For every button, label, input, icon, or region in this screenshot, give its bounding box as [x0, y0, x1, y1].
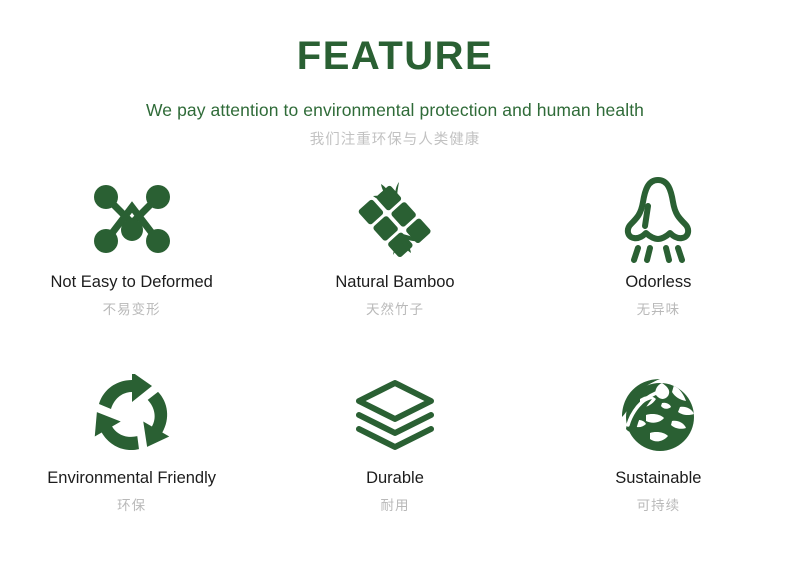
subtitle-chinese: 我们注重环保与人类健康	[0, 132, 790, 149]
molecule-lattice-icon	[92, 171, 172, 267]
feature-label-chinese: 不易变形	[103, 302, 161, 318]
feature-label: Sustainable	[615, 469, 701, 489]
feature-label: Odorless	[625, 273, 691, 293]
feature-grid: Not Easy to Deformed 不易变形	[0, 171, 790, 563]
feature-label-chinese: 可持续	[637, 498, 681, 514]
nose-odor-icon	[620, 171, 696, 267]
section-header: FEATURE We pay attention to environmenta…	[0, 0, 790, 149]
globe-leaf-icon	[616, 367, 700, 463]
feature-label-chinese: 天然竹子	[366, 302, 424, 318]
feature-card-not-easy-to-deformed: Not Easy to Deformed 不易变形	[0, 171, 263, 367]
feature-section: FEATURE We pay attention to environmenta…	[0, 0, 790, 576]
feature-card-sustainable: Sustainable 可持续	[527, 367, 790, 563]
feature-label: Environmental Friendly	[47, 469, 216, 489]
feature-label: Natural Bamboo	[335, 273, 454, 293]
bamboo-icon	[355, 171, 435, 267]
feature-label: Not Easy to Deformed	[51, 273, 213, 293]
subtitle-english: We pay attention to environmental protec…	[0, 100, 790, 121]
feature-label-chinese: 环保	[117, 498, 146, 514]
feature-card-durable: Durable 耐用	[263, 367, 526, 563]
feature-label-chinese: 无异味	[637, 302, 681, 318]
feature-label: Durable	[366, 469, 424, 489]
feature-card-natural-bamboo: Natural Bamboo 天然竹子	[263, 171, 526, 367]
feature-label-chinese: 耐用	[380, 498, 409, 514]
feature-card-odorless: Odorless 无异味	[527, 171, 790, 367]
recycle-arrows-icon	[90, 367, 174, 463]
stacked-layers-icon	[352, 367, 438, 463]
page-title: FEATURE	[0, 34, 790, 78]
feature-card-environmental-friendly: Environmental Friendly 环保	[0, 367, 263, 563]
